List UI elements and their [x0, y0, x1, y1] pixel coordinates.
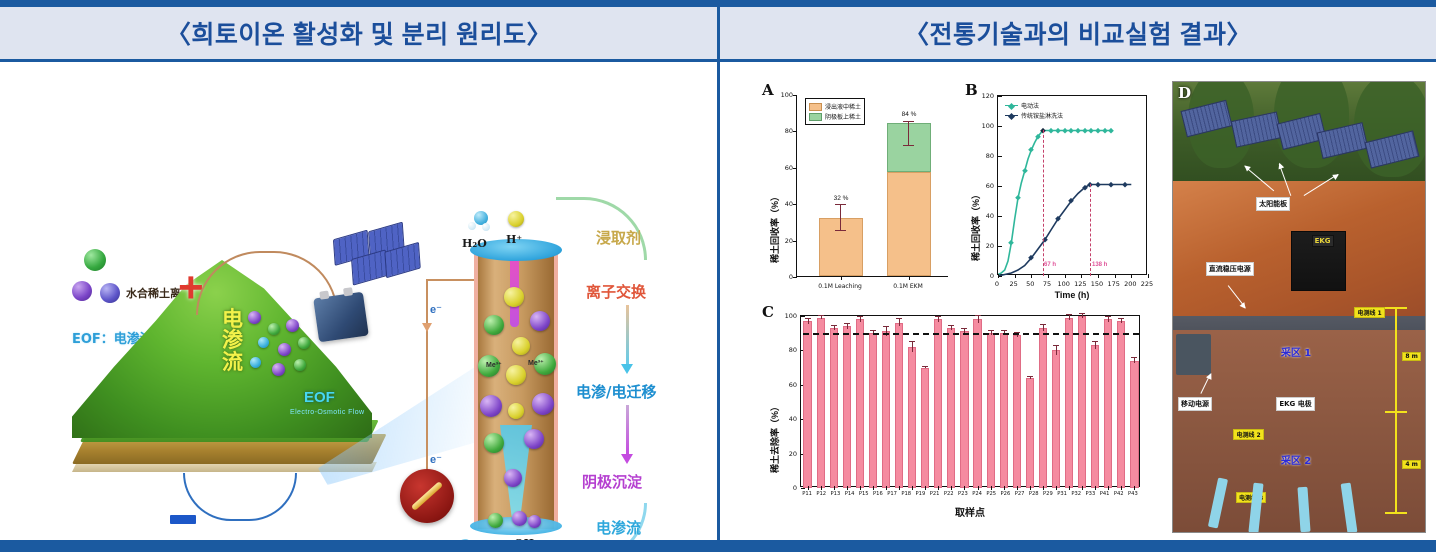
x-tick	[1108, 486, 1109, 490]
y-tick-label: 80	[976, 152, 994, 160]
x-tick	[1004, 486, 1005, 490]
x-tick	[1131, 274, 1132, 278]
bar-removal-rate	[908, 347, 916, 488]
solar-panel-icon	[330, 220, 415, 290]
slide-root: 〈희토이온 활성화 및 분리 원리도〉 〈전통기술과의 비교실험 결과〉 水合稀…	[0, 0, 1436, 552]
panel-a-tag: A	[762, 81, 774, 99]
column-ion	[532, 393, 554, 415]
error-cap	[857, 316, 863, 317]
x-tick-label: P33	[1086, 491, 1096, 497]
x-tick	[978, 486, 979, 490]
bar-removal-rate	[869, 333, 877, 488]
bar-removal-rate	[843, 326, 851, 488]
x-tick-label: P13	[831, 491, 841, 497]
error-bar	[1069, 315, 1070, 320]
slope-ion	[258, 337, 269, 348]
x-tick-label: 50	[1026, 280, 1034, 288]
legend-label: 阴极板上稀土	[825, 112, 861, 121]
legend-label: 浸出液中稀土	[825, 102, 861, 111]
error-bar	[834, 326, 835, 329]
x-tick-label: P26	[1001, 491, 1011, 497]
top-border-rule	[0, 0, 1436, 7]
right-header-title: 〈전통기술과의 비교실험 결과〉	[904, 15, 1252, 51]
electron-label-lower: e⁻	[430, 453, 442, 466]
x-tick-label: P32	[1071, 491, 1081, 497]
x-tick	[1115, 274, 1116, 278]
bar-removal-rate	[1130, 361, 1138, 488]
mobile-power-label: 移动电源	[1178, 397, 1212, 411]
column-ion	[480, 395, 502, 417]
x-tick-label: P23	[958, 491, 968, 497]
x-tick-label: 0.1M Leaching	[818, 283, 862, 290]
vertical-divider	[717, 7, 720, 540]
error-bar	[951, 326, 952, 329]
bar-removal-rate	[1117, 321, 1125, 488]
error-cap	[870, 330, 876, 331]
error-bar	[840, 205, 841, 231]
solar-panel-label: 太阳能板	[1256, 197, 1290, 211]
water-label-top: H₂O	[462, 237, 487, 250]
x-tick-label: 25	[1010, 280, 1018, 288]
bar-removal-rate	[1078, 316, 1086, 488]
y-tick-label: 120	[976, 92, 994, 100]
left-panel-header: 〈희토이온 활성화 및 분리 원리도〉	[0, 7, 718, 62]
error-cap	[883, 326, 889, 327]
x-tick-label: P29	[1043, 491, 1053, 497]
x-tick	[821, 486, 822, 490]
error-cap	[831, 325, 837, 326]
x-tick	[912, 486, 913, 490]
x-tick	[991, 486, 992, 490]
legend-swatch-leachate	[809, 103, 822, 111]
x-tick	[841, 276, 842, 280]
panel-a-ylabel: 稀土回收率（%）	[768, 192, 781, 263]
x-tick	[847, 486, 848, 490]
error-cap	[948, 325, 954, 326]
x-tick-label: P25	[986, 491, 996, 497]
comparison-figure: A 100 80 60 40 20 0	[720, 65, 1436, 540]
column-ion	[504, 469, 522, 487]
cathode-minus-chip	[170, 515, 196, 524]
slope-ion	[278, 343, 291, 356]
error-cap	[835, 204, 846, 205]
y-tick	[793, 95, 797, 96]
y-tick	[793, 204, 797, 205]
dimension-tick-mid	[1385, 411, 1408, 413]
error-bar	[821, 316, 822, 319]
left-header-title: 〈희토이온 활성화 및 분리 원리도〉	[166, 15, 552, 51]
proton-label: H⁺	[506, 233, 522, 246]
dc-power-supply-label: 直流稳压电源	[1206, 262, 1254, 276]
legend-swatch-cathode	[809, 113, 822, 121]
column-ion	[530, 311, 550, 331]
panel-c-axes: 100 80 60 40 20 0	[800, 315, 1140, 487]
hydrogen-atom	[468, 222, 476, 230]
y-tick-label: 80	[775, 127, 793, 135]
error-cap	[1105, 316, 1111, 317]
ekg-electrode-label: EKG 电极	[1276, 397, 1314, 411]
slope-ion	[250, 357, 261, 368]
error-cap	[935, 316, 941, 317]
metal-ion-label-1: Me³⁺	[486, 361, 502, 369]
y-tick-label: 0	[775, 273, 793, 281]
survey-line-1-label: 电测线 1	[1354, 307, 1384, 318]
panel-d-photo: D 太阳能板 EKG 直流稳压电源 移动电源	[1172, 81, 1426, 533]
bar-removal-rate	[947, 328, 955, 488]
x-tick	[860, 486, 861, 490]
x-tick	[1069, 486, 1070, 490]
x-tick	[1098, 274, 1099, 278]
panel-c-bar-group	[801, 316, 1141, 488]
x-tick-label: P12	[816, 491, 826, 497]
panel-a-legend: 浸出液中稀土 阴极板上稀土	[805, 98, 865, 125]
bar-removal-rate	[1104, 319, 1112, 488]
error-cap	[903, 121, 914, 122]
electron-arrow-upper	[422, 323, 432, 332]
y-tick-label: 0	[777, 484, 797, 492]
column-ion	[508, 403, 524, 419]
bar-removal-rate	[856, 319, 864, 488]
error-bar	[860, 317, 861, 322]
panel-b: B 120 100 80 60 40 20 0	[965, 81, 1155, 306]
bar-removal-rate	[973, 319, 981, 488]
panel-c-xlabel: 取样点	[800, 504, 1140, 519]
error-bar	[899, 319, 900, 326]
mountain-eof-sublabel: Electro-Osmotic Flow	[290, 409, 365, 416]
column-ion	[524, 429, 544, 449]
x-tick-label: 125	[1074, 280, 1086, 288]
bar-removal-rate	[1000, 333, 1008, 488]
error-cap	[805, 318, 811, 319]
x-tick-label: P11	[802, 491, 812, 497]
x-tick-label: P18	[901, 491, 911, 497]
error-cap	[1092, 341, 1098, 342]
cathode-wire	[183, 473, 297, 521]
x-tick	[938, 486, 939, 490]
battery-icon	[313, 292, 369, 343]
bar-removal-rate	[1039, 328, 1047, 488]
y-tick-label: 100	[777, 312, 797, 320]
water-molecule-bottom	[452, 539, 478, 540]
bar-removal-rate	[1026, 378, 1034, 488]
bar-value-label: 32 %	[834, 195, 849, 202]
zone-1-label: 采区 1	[1279, 343, 1313, 360]
bar-removal-rate	[1013, 335, 1021, 488]
slope-ion	[272, 363, 285, 376]
x-tick-label: 225	[1141, 280, 1153, 288]
bar-leaching	[819, 218, 863, 276]
error-cap	[1001, 330, 1007, 331]
error-cap	[844, 323, 850, 324]
hydroxide-label: OH⁻	[514, 537, 540, 540]
column-ion	[504, 287, 524, 307]
error-cap	[896, 318, 902, 319]
panel-d-tag: D	[1178, 84, 1191, 102]
bar-ekm-leachate	[887, 172, 931, 276]
x-tick	[964, 486, 965, 490]
y-tick-label: 0	[976, 272, 994, 280]
x-tick	[808, 486, 809, 490]
slope-ion	[286, 319, 299, 332]
series-ekm-line	[998, 131, 1111, 275]
error-cap	[1027, 376, 1033, 377]
x-tick	[1043, 486, 1044, 490]
bar-removal-rate	[960, 331, 968, 488]
no-chemical-icon	[400, 469, 454, 523]
error-cap	[961, 328, 967, 329]
right-panel-header: 〈전통기술과의 비교실험 결과〉	[720, 7, 1436, 62]
column-ion	[484, 315, 504, 335]
x-tick-label: P22	[944, 491, 954, 497]
arrow-electro-to-precip	[626, 405, 629, 455]
bar-removal-rate	[803, 321, 811, 488]
x-tick-label: 100	[1057, 280, 1069, 288]
bar-removal-rate	[882, 331, 890, 488]
proton-sphere	[508, 211, 524, 227]
slope-ion	[268, 323, 280, 335]
error-bar	[938, 317, 939, 322]
error-cap	[1053, 345, 1059, 346]
y-tick-label: 60	[777, 381, 797, 389]
bar-removal-rate	[1052, 350, 1060, 488]
column-ion	[512, 337, 530, 355]
dimension-tick-bottom	[1385, 512, 1408, 514]
ekg-inset-label: EKG	[1312, 235, 1334, 247]
x-tick	[1148, 274, 1149, 278]
y-tick	[793, 168, 797, 169]
mountain-eof-vertical-label: 电渗流	[222, 309, 248, 373]
bar-removal-rate	[987, 333, 995, 488]
error-cap	[975, 315, 981, 316]
x-tick-label: P42	[1114, 491, 1124, 497]
x-tick-label: P43	[1128, 491, 1138, 497]
x-tick	[1081, 274, 1082, 278]
bar-removal-rate	[921, 368, 929, 488]
panel-c: C 100 80 60 40 20 0	[762, 301, 1162, 531]
x-tick	[1048, 274, 1049, 278]
bar-removal-rate	[1091, 345, 1099, 488]
error-bar	[978, 316, 979, 323]
x-tick-label: P28	[1029, 491, 1039, 497]
process-label-leaching: 浸取剂	[596, 227, 641, 248]
rare-earth-schematic: 水合稀土离子 EOF：电渗流 电渗流 EOF Electro-Osmotic F…	[0, 65, 717, 535]
annotation-138h: 138 h	[1092, 262, 1107, 268]
arrow-ion-exchange-to-electro	[626, 305, 629, 365]
error-bar	[1043, 325, 1044, 332]
x-tick	[1056, 486, 1057, 490]
bar-removal-rate	[934, 319, 942, 488]
x-tick-label: P19	[916, 491, 926, 497]
error-cap	[909, 341, 915, 342]
x-tick-label: 0.1M EKM	[893, 283, 923, 290]
error-cap	[903, 145, 914, 146]
circuit-horizontal-wire	[426, 279, 476, 281]
error-bar	[908, 122, 909, 146]
error-bar	[925, 367, 926, 369]
hydrogen-atom	[482, 223, 490, 231]
error-bar	[847, 324, 848, 329]
x-tick-label: P24	[972, 491, 982, 497]
annotation-67h: 67 h	[1044, 262, 1056, 268]
dimension-tick-top	[1385, 307, 1408, 309]
error-bar	[1030, 377, 1031, 379]
slope-ion	[294, 359, 306, 371]
error-bar	[808, 319, 809, 324]
y-tick	[793, 241, 797, 242]
slope-ion	[298, 337, 310, 349]
panel-a: A 100 80 60 40 20 0	[762, 81, 962, 306]
column-ion	[484, 433, 504, 453]
error-bar	[912, 342, 913, 352]
x-tick	[1031, 274, 1032, 278]
x-tick-label: P31	[1057, 491, 1067, 497]
precipitate-ion	[488, 513, 503, 528]
error-bar	[1108, 317, 1109, 322]
equipment-block	[1176, 334, 1211, 375]
left-panel-body: 水合稀土离子 EOF：电渗流 电渗流 EOF Electro-Osmotic F…	[0, 65, 717, 540]
x-tick-label: P16	[873, 491, 883, 497]
y-tick-label: 60	[976, 182, 994, 190]
x-tick-label: 0	[995, 280, 999, 288]
x-tick	[1017, 486, 1018, 490]
error-bar	[1134, 358, 1135, 363]
x-tick	[1065, 274, 1066, 278]
precipitate-ion	[528, 515, 541, 528]
error-cap	[988, 330, 994, 331]
oxygen-atom	[458, 539, 472, 540]
x-tick-label: 150	[1091, 280, 1103, 288]
x-tick	[1030, 486, 1031, 490]
process-label-eof-flow: 电渗流	[596, 517, 641, 538]
x-tick	[1121, 486, 1122, 490]
x-tick	[886, 486, 887, 490]
x-tick	[925, 486, 926, 490]
panel-b-ylabel: 稀土回收率（%）	[969, 190, 982, 261]
process-label-cathode-precipitation: 阴极沉淀	[582, 471, 642, 492]
bar-removal-rate	[830, 328, 838, 488]
electron-label-upper: e⁻	[430, 303, 442, 316]
y-tick-label: 60	[775, 164, 793, 172]
annotation-line-138h	[1090, 184, 1091, 276]
error-cap	[818, 315, 824, 316]
x-tick	[873, 486, 874, 490]
x-tick-label: 75	[1043, 280, 1051, 288]
water-molecule-top	[468, 211, 494, 233]
column-ion	[506, 365, 526, 385]
right-panel-body: A 100 80 60 40 20 0	[720, 65, 1436, 540]
bar-removal-rate	[1065, 318, 1073, 488]
legend-entry: 浸出液中稀土	[809, 102, 861, 111]
dimension-label-4m: 4 m	[1402, 460, 1421, 469]
panel-c-tag: C	[762, 303, 774, 321]
x-tick-label: P41	[1100, 491, 1110, 497]
error-cap	[1040, 324, 1046, 325]
x-tick	[998, 274, 999, 278]
y-tick	[793, 131, 797, 132]
x-tick-label: P21	[930, 491, 940, 497]
legend-entry: 阴极板上稀土	[809, 112, 861, 121]
x-tick	[1134, 486, 1135, 490]
panel-c-xlabel-group: P11P12P13P14P15P16P17P18P19P21P22P23P24P…	[800, 491, 1140, 503]
zone-2-label: 采区 2	[1279, 451, 1313, 468]
process-label-electroosmosis: 电渗/电迁移	[576, 381, 656, 402]
error-cap	[1131, 357, 1137, 358]
x-tick	[1015, 274, 1016, 278]
x-tick-label: 175	[1107, 280, 1119, 288]
error-bar	[1056, 346, 1057, 355]
y-tick-label: 100	[775, 91, 793, 99]
threshold-line-90pct	[803, 333, 1139, 335]
bar-removal-rate	[895, 323, 903, 488]
x-tick	[1082, 486, 1083, 490]
metal-ion-label-2: Me³⁺	[528, 359, 544, 367]
error-bar	[1082, 314, 1083, 317]
x-tick	[951, 486, 952, 490]
x-tick	[1095, 486, 1096, 490]
x-tick-label: P27	[1015, 491, 1025, 497]
error-cap	[835, 230, 846, 231]
panel-a-axes: 100 80 60 40 20 0 浸出液中稀土 阴极板上稀	[796, 95, 948, 277]
annotation-line-67h	[1043, 130, 1044, 276]
x-tick	[909, 276, 910, 280]
x-tick	[899, 486, 900, 490]
bottom-border-rule	[0, 540, 1436, 552]
error-cap	[1079, 313, 1085, 314]
y-tick-label: 100	[976, 122, 994, 130]
bar-ekm-cathode	[887, 123, 931, 172]
process-label-ion-exchange: 离子交换	[586, 281, 646, 302]
precipitate-ion	[512, 511, 527, 526]
error-cap	[1066, 314, 1072, 315]
panel-b-xlabel: Time (h)	[997, 290, 1147, 300]
panel-c-ylabel: 稀土去除率（%）	[768, 402, 781, 473]
y-tick	[793, 277, 797, 278]
dimension-label-8m: 8 m	[1402, 352, 1421, 361]
x-tick-label: P14	[845, 491, 855, 497]
bar-removal-rate	[817, 318, 825, 488]
x-tick-label: P15	[859, 491, 869, 497]
x-tick-label: P17	[887, 491, 897, 497]
bar-value-label: 84 %	[902, 111, 917, 118]
error-cap	[1118, 318, 1124, 319]
survey-line-2-label: 电测线 2	[1233, 429, 1263, 440]
y-tick	[801, 488, 805, 489]
error-bar	[1095, 342, 1096, 349]
y-tick-label: 80	[777, 346, 797, 354]
panel-b-axes: 120 100 80 60 40 20 0 电动法	[997, 95, 1147, 275]
mountain-eof-label: EOF	[304, 389, 335, 406]
x-tick	[834, 486, 835, 490]
error-bar	[1121, 319, 1122, 322]
error-cap	[922, 366, 928, 367]
x-tick-label: 200	[1124, 280, 1136, 288]
